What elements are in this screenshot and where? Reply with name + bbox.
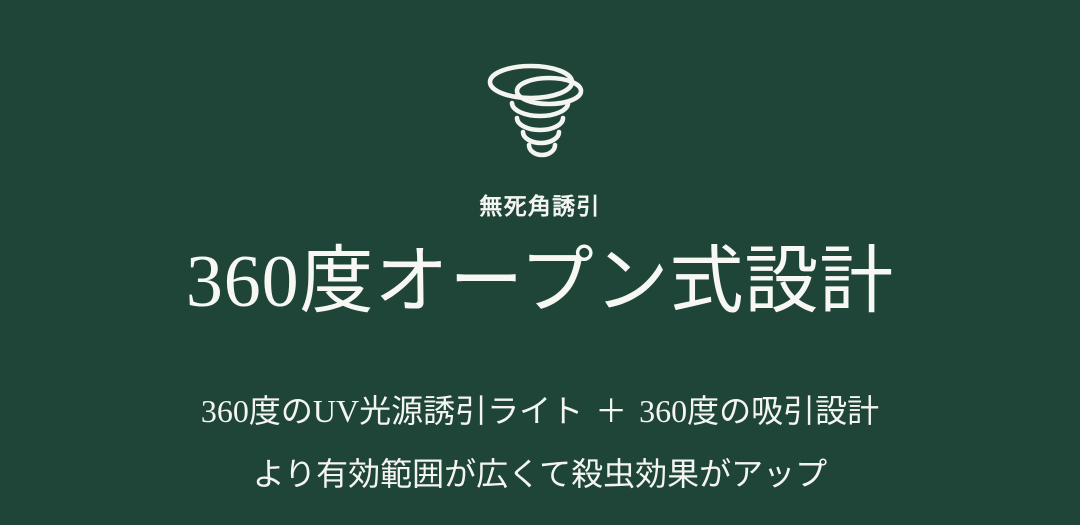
page-title: 360度オープン式設計 [186, 245, 894, 319]
vortex-tornado-icon [475, 58, 605, 166]
body-line-1-after-plus: 360度の吸引設計 [639, 393, 879, 429]
body-line-2: より有効範囲が広くて殺虫効果がアップ [201, 458, 879, 490]
body-copy: 360度のUV光源誘引ライト ＋ 360度の吸引設計 より有効範囲が広くて殺虫効… [201, 395, 879, 490]
eyebrow-text: 無死角誘引 [479, 196, 600, 219]
plus-separator-icon: ＋ [591, 395, 631, 427]
body-line-1: 360度のUV光源誘引ライト ＋ 360度の吸引設計 [201, 395, 879, 427]
body-line-1-before-plus: 360度のUV光源誘引ライト [201, 393, 583, 429]
promo-banner: 無死角誘引 360度オープン式設計 360度のUV光源誘引ライト ＋ 360度の… [0, 0, 1080, 525]
